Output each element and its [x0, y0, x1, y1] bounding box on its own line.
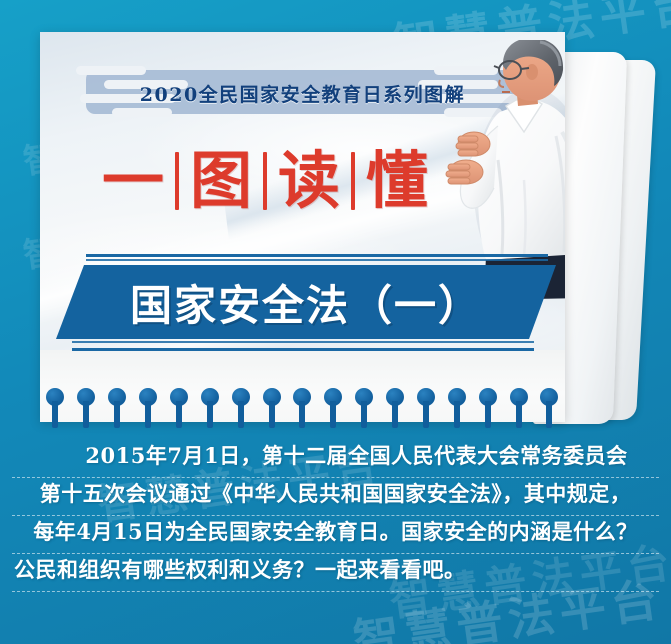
binder-pin [540, 388, 558, 428]
binder-pin [108, 388, 126, 428]
binder-pin [170, 388, 188, 428]
banner-rule-top-thin [86, 259, 548, 261]
body-line: 公民和组织有哪些权利和义务？一起来看看吧。 [0, 554, 671, 592]
infographic-poster: 智慧普法平台 智慧普法平台 智慧普法平台 智慧普法平台 智慧普法平台 智慧普法平… [0, 0, 671, 644]
binder-pin [293, 388, 311, 428]
binder-pin [46, 388, 64, 428]
poster-card: 2020全民国家安全教育日系列图解 一 图 读 懂 国家安全法（一） [40, 32, 565, 422]
binder-pin [417, 388, 435, 428]
binder-pin [232, 388, 250, 428]
body-paragraph: 2015年7月1日，第十二届全国人民代表大会常务委员会 第十五次会议通过《中华人… [0, 440, 671, 592]
headline-char-3: 读 [268, 150, 350, 212]
binder-pin [355, 388, 373, 428]
body-line-dash [12, 591, 659, 592]
banner-parallelogram: 国家安全法（一） [56, 265, 556, 339]
headline-char-4: 懂 [356, 150, 438, 212]
banner-rule-top-thick [86, 254, 548, 257]
poster-kicker-title: 2020全民国家安全教育日系列图解 [40, 80, 565, 107]
body-line-text: 2015年7月1日，第十二届全国人民代表大会常务委员会 [0, 440, 671, 472]
binder-pin [324, 388, 342, 428]
headline-group: 一 图 读 懂 [92, 150, 438, 212]
headline-separator-1 [175, 152, 179, 210]
binder-pin [201, 388, 219, 428]
binder-pin [77, 388, 95, 428]
body-line: 第十五次会议通过《中华人民共和国国家安全法》，其中规定， [0, 478, 671, 516]
binder-pin-row [40, 388, 565, 432]
headline-char-1: 一 [92, 150, 174, 212]
binder-pin [263, 388, 281, 428]
binder-pin [386, 388, 404, 428]
binder-pin [139, 388, 157, 428]
headline-separator-3 [351, 152, 355, 210]
banner-title-text: 国家安全法（一） [130, 272, 482, 333]
body-line: 每年4月15日为全民国家安全教育日。国家安全的内涵是什么？ [0, 516, 671, 554]
headline-char-2: 图 [180, 150, 262, 212]
body-line-text: 公民和组织有哪些权利和义务？一起来看看吧。 [0, 554, 671, 586]
binder-pin [448, 388, 466, 428]
body-line-text: 第十五次会议通过《中华人民共和国国家安全法》，其中规定， [0, 478, 671, 510]
body-line-text: 每年4月15日为全民国家安全教育日。国家安全的内涵是什么？ [0, 516, 671, 548]
body-line: 2015年7月1日，第十二届全国人民代表大会常务委员会 [0, 440, 671, 478]
banner-group: 国家安全法（一） [56, 254, 556, 351]
binder-pin [479, 388, 497, 428]
banner-rule-bottom-thin [72, 341, 534, 343]
binder-pin [510, 388, 528, 428]
headline-separator-2 [263, 152, 267, 210]
banner-rule-bottom-thick [72, 348, 534, 351]
